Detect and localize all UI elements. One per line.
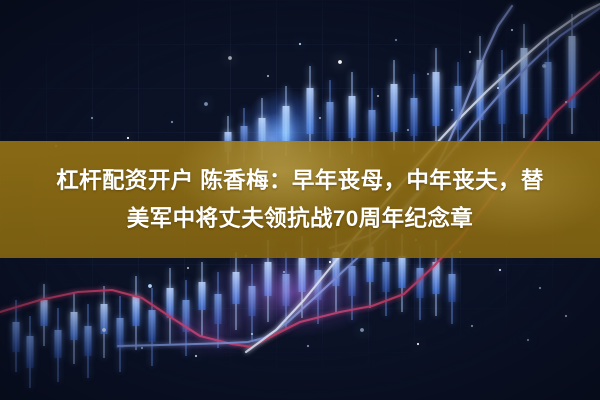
thumbnail-image: 杠杆配资开户 陈香梅：早年丧母，中年丧夫，替 美军中将丈夫领抗战70周年纪念章: [0, 0, 600, 400]
headline-line-2: 美军中将丈夫领抗战70周年纪念章: [127, 200, 473, 238]
headline-banner: 杠杆配资开户 陈香梅：早年丧母，中年丧夫，替 美军中将丈夫领抗战70周年纪念章: [0, 141, 600, 258]
headline-line-1: 杠杆配资开户 陈香梅：早年丧母，中年丧夫，替: [56, 162, 544, 200]
